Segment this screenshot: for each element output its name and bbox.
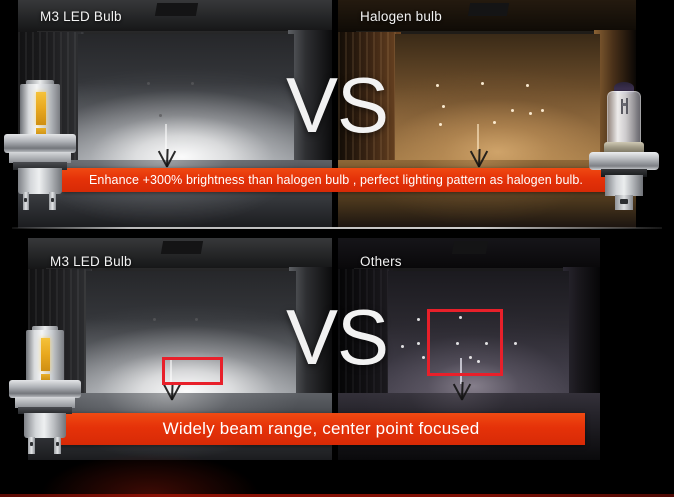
wall-marker-dot bbox=[401, 345, 404, 348]
led-bulb-pin bbox=[54, 437, 61, 454]
led-chip bbox=[36, 92, 45, 125]
halogen-bulb-base bbox=[605, 175, 642, 195]
halogen-bulb-pin bbox=[615, 195, 634, 210]
wall-marker-dot bbox=[422, 356, 425, 359]
panel-label-m3-led: M3 LED Bulb bbox=[40, 9, 122, 24]
halogen-filament bbox=[621, 99, 623, 113]
right-wall bbox=[289, 267, 332, 407]
tripod-leg bbox=[166, 149, 169, 167]
wall-marker-dot bbox=[191, 82, 194, 85]
led-bulb-flange bbox=[4, 134, 77, 153]
target-tripod bbox=[461, 124, 495, 166]
wall-marker-dot bbox=[514, 342, 517, 345]
led-bulb-pin bbox=[28, 437, 35, 454]
right-wall bbox=[563, 267, 600, 407]
led-bulb-pin bbox=[23, 192, 30, 210]
led-bulb-product-image bbox=[8, 330, 82, 454]
wall-marker-dot bbox=[493, 121, 496, 124]
target-tripod bbox=[149, 124, 183, 166]
led-bulb-pin bbox=[49, 192, 56, 210]
tripod-pole bbox=[477, 124, 479, 150]
wall-marker-dot bbox=[529, 112, 532, 115]
ceiling-beam bbox=[161, 241, 203, 254]
right-wall bbox=[288, 30, 332, 174]
wall-marker-dot bbox=[417, 318, 420, 321]
led-bulb-head bbox=[20, 84, 60, 137]
caption-banner-bottom: Widely beam range, center point focused bbox=[57, 413, 585, 445]
ceiling-beam bbox=[468, 3, 509, 16]
led-bulb-body bbox=[18, 168, 62, 193]
wall-marker-dot bbox=[153, 318, 156, 321]
led-bulb-head bbox=[26, 330, 64, 382]
comparison-image: M3 LED Bulb bbox=[0, 0, 674, 497]
section-divider bbox=[12, 227, 662, 229]
led-bulb-body bbox=[24, 413, 67, 438]
ceiling-beam bbox=[452, 241, 488, 254]
back-wall bbox=[395, 34, 601, 162]
halogen-filament-coil bbox=[622, 103, 627, 106]
panel-label-others: Others bbox=[360, 254, 402, 269]
halogen-bulb-product-image bbox=[588, 82, 660, 210]
caption-banner-top: Enhance +300% brightness than halogen bu… bbox=[62, 168, 610, 192]
comparison-block-bottom: M3 LED Bulb bbox=[0, 238, 674, 460]
left-wall bbox=[338, 269, 393, 411]
panel-label-m3-led: M3 LED Bulb bbox=[50, 254, 132, 269]
back-wall bbox=[78, 34, 295, 162]
red-highlight-box bbox=[162, 357, 223, 385]
led-bulb-product-image bbox=[2, 84, 78, 210]
wall-marker-dot bbox=[147, 82, 150, 85]
red-highlight-box bbox=[427, 309, 503, 376]
led-chip bbox=[41, 338, 50, 370]
comparison-block-top: M3 LED Bulb bbox=[0, 0, 674, 228]
left-wall bbox=[338, 32, 401, 178]
ceiling-beam bbox=[155, 3, 198, 16]
halogen-bulb-flange bbox=[589, 152, 660, 170]
halogen-bulb-glass bbox=[607, 91, 640, 145]
panel-label-halogen: Halogen bulb bbox=[360, 9, 442, 24]
tripod-pole bbox=[165, 124, 167, 150]
led-bulb-flange bbox=[9, 380, 80, 399]
